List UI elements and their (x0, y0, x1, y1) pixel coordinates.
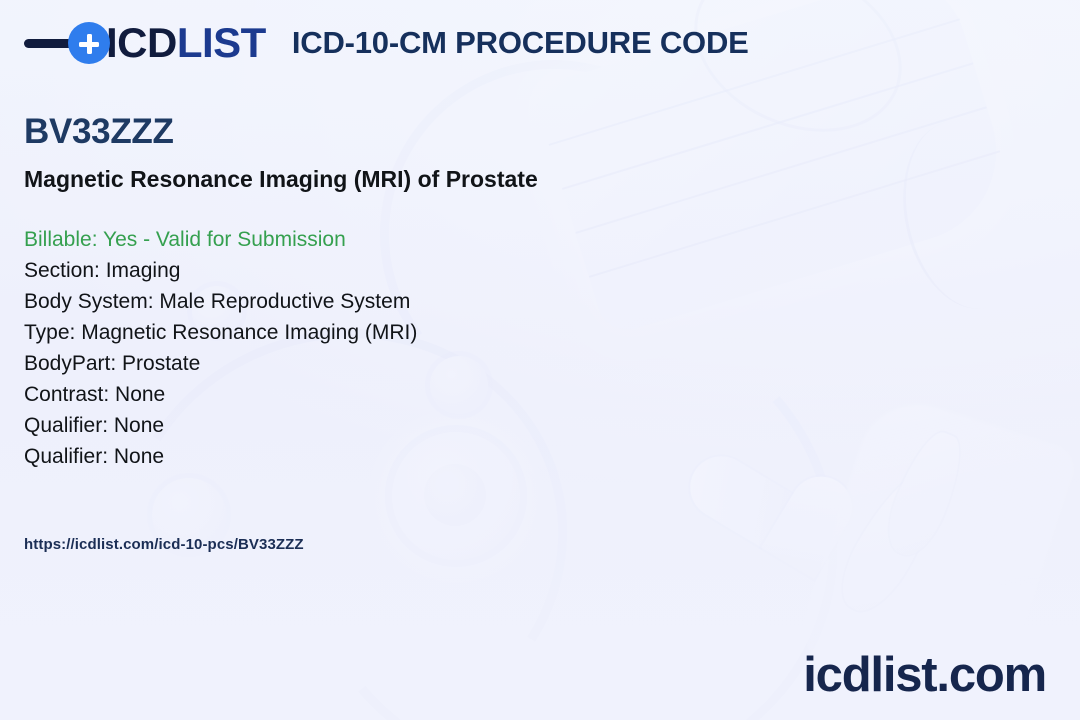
detail-row: Qualifier: None (24, 441, 417, 472)
logo-word-icd: ICD (106, 19, 177, 66)
detail-list: Billable: Yes - Valid for SubmissionSect… (24, 224, 417, 472)
detail-row: Qualifier: None (24, 410, 417, 441)
footer-brand: icdlist.com (803, 651, 1046, 700)
page-title: ICD-10-CM PROCEDURE CODE (292, 25, 749, 61)
logo-wordmark: ICDLIST (106, 22, 266, 64)
icd-code-card: ICDLIST ICD-10-CM PROCEDURE CODE BV33ZZZ… (0, 0, 1080, 720)
card-content: ICDLIST ICD-10-CM PROCEDURE CODE BV33ZZZ… (0, 0, 1080, 720)
detail-row: Section: Imaging (24, 255, 417, 286)
plus-icon (68, 22, 110, 64)
detail-row: Contrast: None (24, 379, 417, 410)
detail-row: Type: Magnetic Resonance Imaging (MRI) (24, 317, 417, 348)
detail-row: BodyPart: Prostate (24, 348, 417, 379)
logo-word-list: LIST (177, 19, 266, 66)
page-header: ICDLIST ICD-10-CM PROCEDURE CODE (24, 22, 749, 64)
icdlist-logo[interactable]: ICDLIST (24, 22, 266, 64)
billable-status: Billable: Yes - Valid for Submission (24, 224, 417, 255)
source-url[interactable]: https://icdlist.com/icd-10-pcs/BV33ZZZ (24, 536, 304, 553)
procedure-description: Magnetic Resonance Imaging (MRI) of Pros… (24, 166, 538, 194)
procedure-code: BV33ZZZ (24, 114, 174, 149)
detail-row: Body System: Male Reproductive System (24, 286, 417, 317)
